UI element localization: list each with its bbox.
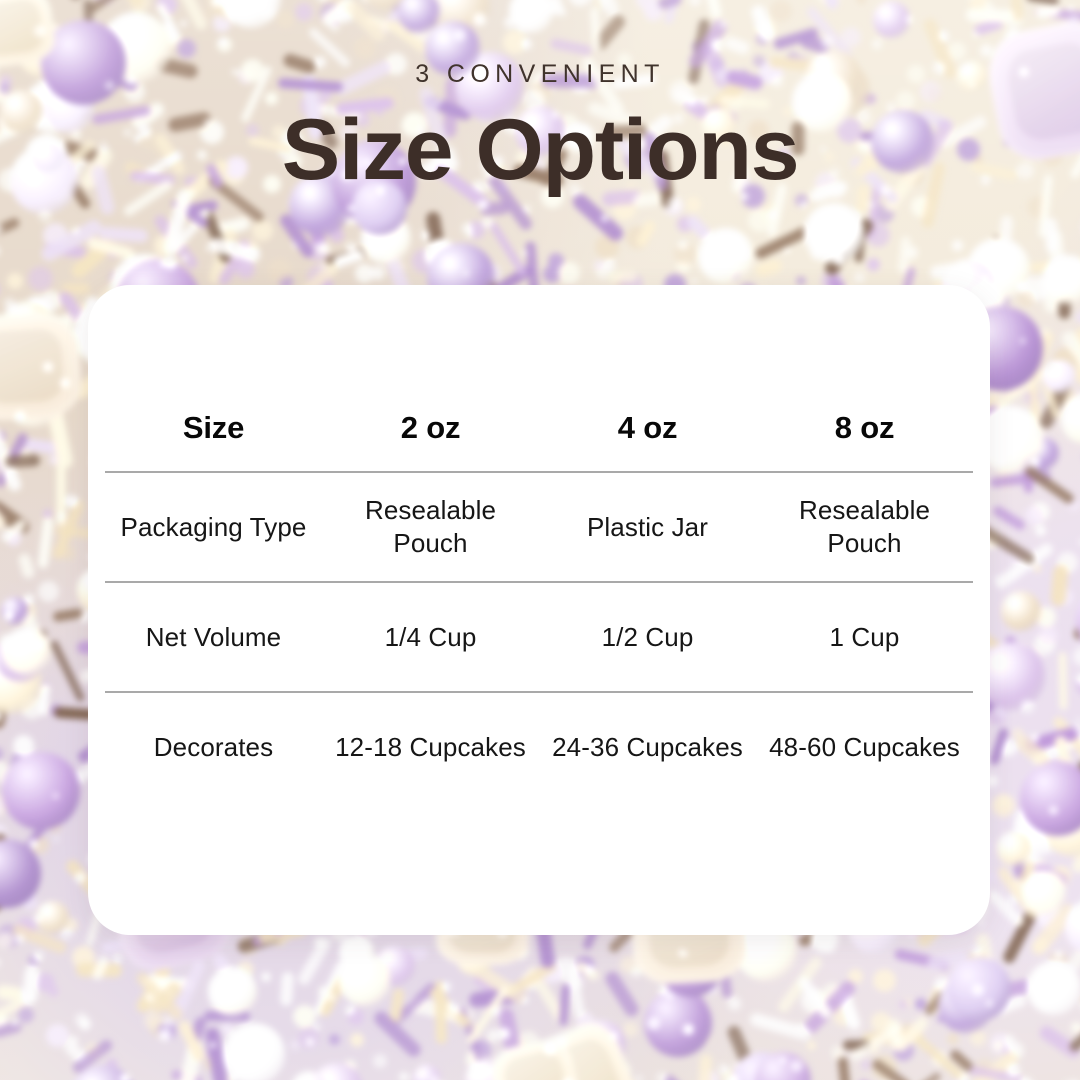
heading-block: 3 CONVENIENT Size Options [0,0,1080,195]
cell-decorates-8oz: 48-60 Cupcakes [756,692,973,802]
cell-text: 24-36 Cupcakes [539,721,756,774]
page-title: Size Options [0,105,1080,195]
size-options-card: Size 2 oz 4 oz 8 oz Packaging Type Resea… [88,285,990,935]
cell-volume-8oz: 1 Cup [756,582,973,692]
cell-text: Net Volume [105,611,322,664]
cell-text: 12-18 Cupcakes [322,721,539,774]
table-row: Decorates 12-18 Cupcakes 24-36 Cupcakes … [105,692,973,802]
table-row: Packaging Type Resealable Pouch Plastic … [105,472,973,582]
cell-packaging-8oz: Resealable Pouch [756,472,973,582]
row-label-packaging-type: Packaging Type [105,472,322,582]
row-label-decorates: Decorates [105,692,322,802]
cell-text: Packaging Type [105,501,322,554]
cell-text: Resealable Pouch [322,484,539,570]
table-body: Packaging Type Resealable Pouch Plastic … [105,472,973,802]
row-label-net-volume: Net Volume [105,582,322,692]
cell-text: Resealable Pouch [756,484,973,570]
column-header-8oz: 8 oz [756,385,973,472]
cell-text: 1/4 Cup [322,611,539,664]
cell-text: 1 Cup [756,611,973,664]
cell-text: 48-60 Cupcakes [756,721,973,774]
cell-decorates-2oz: 12-18 Cupcakes [322,692,539,802]
cell-volume-2oz: 1/4 Cup [322,582,539,692]
table-header: Size 2 oz 4 oz 8 oz [105,385,973,472]
cell-packaging-4oz: Plastic Jar [539,472,756,582]
column-header-2oz: 2 oz [322,385,539,472]
cell-packaging-2oz: Resealable Pouch [322,472,539,582]
table-header-row: Size 2 oz 4 oz 8 oz [105,385,973,472]
column-header-4oz: 4 oz [539,385,756,472]
column-header-size: Size [105,385,322,472]
table-row: Net Volume 1/4 Cup 1/2 Cup 1 Cup [105,582,973,692]
cell-volume-4oz: 1/2 Cup [539,582,756,692]
eyebrow-text: 3 CONVENIENT [0,62,1080,87]
size-comparison-table: Size 2 oz 4 oz 8 oz Packaging Type Resea… [105,385,973,802]
cell-text: Decorates [105,721,322,774]
cell-text: 1/2 Cup [539,611,756,664]
cell-text: Plastic Jar [539,501,756,554]
cell-decorates-4oz: 24-36 Cupcakes [539,692,756,802]
